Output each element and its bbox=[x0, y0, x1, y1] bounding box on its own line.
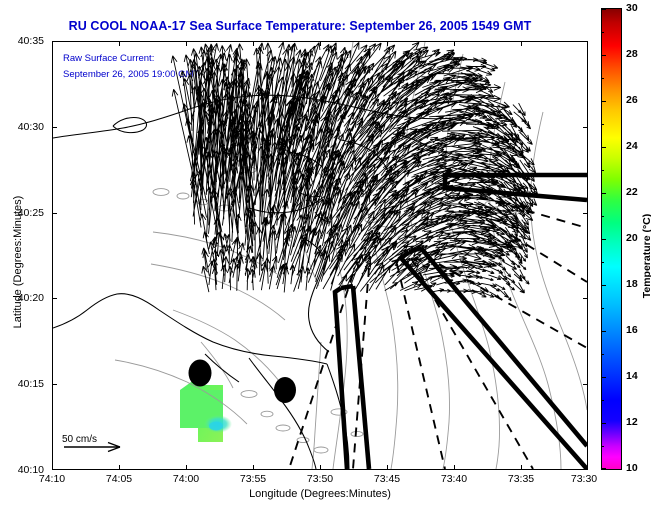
colorbar-tick bbox=[601, 377, 606, 378]
x-tick bbox=[387, 465, 388, 470]
y-tick bbox=[583, 213, 588, 214]
x-tick bbox=[521, 41, 522, 46]
colorbar-tick bbox=[601, 423, 606, 424]
colorbar-tick-label: 28 bbox=[626, 48, 638, 60]
current-vector-field bbox=[171, 42, 537, 301]
colorbar-minor-tick bbox=[601, 32, 604, 33]
colorbar-tick-label: 22 bbox=[626, 186, 638, 198]
y-tick bbox=[52, 384, 57, 385]
colorbar-minor-tick bbox=[601, 446, 604, 447]
y-tick-label: 40:35 bbox=[18, 35, 44, 47]
x-tick-label: 74:05 bbox=[106, 473, 132, 485]
colorbar-tick bbox=[601, 147, 606, 148]
colorbar-tick bbox=[601, 239, 606, 240]
x-tick-label: 73:55 bbox=[240, 473, 266, 485]
current-vectors bbox=[171, 42, 537, 301]
map-graphics bbox=[53, 42, 587, 469]
y-tick bbox=[583, 469, 588, 470]
colorbar-tick-label: 12 bbox=[626, 416, 638, 428]
x-tick bbox=[186, 41, 187, 46]
colorbar-tick bbox=[601, 468, 606, 469]
colorbar-tick-label: 16 bbox=[626, 324, 638, 336]
x-tick bbox=[320, 41, 321, 46]
colorbar-minor-tick bbox=[601, 170, 604, 171]
colorbar-tick-label: 26 bbox=[626, 94, 638, 106]
x-tick bbox=[253, 465, 254, 470]
x-tick bbox=[521, 465, 522, 470]
y-tick-label: 40:10 bbox=[18, 464, 44, 476]
colorbar-tick bbox=[601, 101, 606, 102]
y-axis-tick-labels: 40:1040:1540:2040:2540:3040:35 bbox=[0, 0, 48, 518]
colorbar-tick-label: 18 bbox=[626, 278, 638, 290]
y-tick bbox=[583, 298, 588, 299]
y-tick bbox=[52, 298, 57, 299]
arrow-right-icon bbox=[62, 437, 132, 457]
colorbar-tick bbox=[601, 55, 606, 56]
colorbar-minor-tick bbox=[601, 400, 604, 401]
x-tick-label: 73:45 bbox=[374, 473, 400, 485]
x-tick-label: 73:50 bbox=[307, 473, 333, 485]
x-tick-label: 73:40 bbox=[441, 473, 467, 485]
x-axis-title: Longitude (Degrees:Minutes) bbox=[52, 488, 588, 500]
x-tick-label: 73:35 bbox=[508, 473, 534, 485]
x-tick-label: 73:30 bbox=[571, 473, 597, 485]
map-plot-area[interactable]: Raw Surface Current: September 26, 2005 … bbox=[52, 41, 588, 470]
colorbar-tick bbox=[601, 9, 606, 10]
y-tick bbox=[52, 127, 57, 128]
colorbar-tick bbox=[601, 331, 606, 332]
colorbar-tick-label: 20 bbox=[626, 232, 638, 244]
colorbar-title: Temperature (°C) bbox=[641, 181, 651, 331]
y-tick bbox=[52, 213, 57, 214]
colorbar-tick-label: 24 bbox=[626, 140, 638, 152]
x-tick bbox=[119, 465, 120, 470]
y-tick bbox=[583, 384, 588, 385]
x-tick bbox=[186, 465, 187, 470]
y-tick-label: 40:15 bbox=[18, 378, 44, 390]
x-tick bbox=[253, 41, 254, 46]
x-tick-label: 74:00 bbox=[173, 473, 199, 485]
colorbar-minor-tick bbox=[601, 308, 604, 309]
y-tick bbox=[583, 41, 588, 42]
colorbar-tick-label: 10 bbox=[626, 462, 638, 474]
x-tick bbox=[320, 465, 321, 470]
y-tick bbox=[52, 41, 57, 42]
x-tick bbox=[119, 41, 120, 46]
colorbar-tick bbox=[601, 285, 606, 286]
colorbar-minor-tick bbox=[601, 124, 604, 125]
x-tick bbox=[387, 41, 388, 46]
colorbar-tick-label: 30 bbox=[626, 2, 638, 14]
colorbar-minor-tick bbox=[601, 354, 604, 355]
y-axis-title: Latitude (Degrees:Minutes) bbox=[12, 182, 24, 342]
y-tick-label: 40:30 bbox=[18, 121, 44, 133]
colorbar-tick bbox=[601, 193, 606, 194]
colorbar-tick-label: 14 bbox=[626, 370, 638, 382]
colorbar-minor-tick bbox=[601, 262, 604, 263]
y-tick bbox=[583, 127, 588, 128]
colorbar bbox=[601, 8, 622, 470]
y-tick bbox=[52, 469, 57, 470]
colorbar-minor-tick bbox=[601, 216, 604, 217]
x-tick bbox=[454, 41, 455, 46]
colorbar-minor-tick bbox=[601, 78, 604, 79]
page-title: RU COOL NOAA-17 Sea Surface Temperature:… bbox=[0, 19, 600, 33]
x-tick bbox=[454, 465, 455, 470]
